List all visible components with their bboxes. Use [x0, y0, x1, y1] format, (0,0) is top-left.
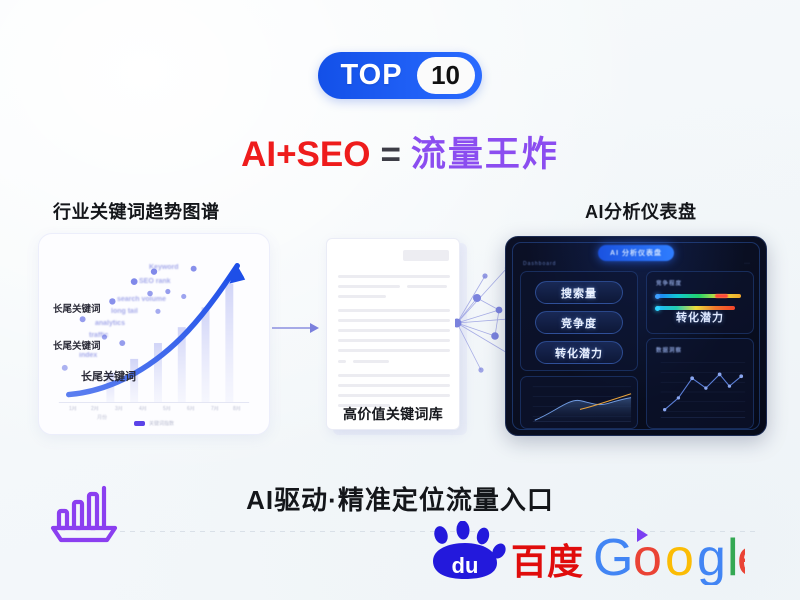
pill-competition[interactable]: 竞争度: [535, 311, 623, 334]
gradient-panel-title: 竞争程度: [656, 279, 682, 287]
long-tail-label-2: 长尾关键词: [53, 338, 101, 352]
flow-arrow-icon: [272, 322, 320, 334]
gradient-marker: [715, 294, 728, 298]
competition-gradient-panel: 竞争程度 转化潜力: [646, 271, 754, 334]
document-caption: 高价值关键词库: [326, 404, 460, 424]
keyword-library-document: [326, 238, 460, 430]
legend-swatch: [134, 421, 145, 426]
dashboard-menu-icon[interactable]: ···: [744, 261, 750, 267]
mini-area-chart-panel: [520, 376, 638, 429]
top-badge-label: TOP: [340, 59, 416, 92]
page-title: AI+SEO=流量王炸: [0, 126, 800, 177]
conversion-potential-overlay: 转化潜力: [647, 309, 753, 325]
google-logo: G o o g l e: [593, 529, 745, 585]
pill-conversion[interactable]: 转化潜力: [535, 341, 623, 364]
keyword-trend-card: Keyword SEO rank search volume long tail…: [38, 233, 270, 435]
ai-dashboard: AI 分析仪表盘 Dashboard ··· 搜索量 竞争度 转化潜力 竞争: [505, 236, 767, 436]
long-tail-label-3: 长尾关键词: [81, 368, 136, 384]
pill-search-volume[interactable]: 搜索量: [535, 281, 623, 304]
legend-label: 关键词指数: [149, 420, 174, 427]
insight-panel: 数据洞察: [646, 338, 754, 429]
dashboard-title-badge: AI 分析仪表盘: [598, 245, 674, 261]
svg-text:e: e: [737, 529, 745, 585]
bar-chart-pedestal-icon: [45, 482, 123, 550]
baidu-text: 百度: [511, 541, 583, 582]
title-traffic: 流量王炸: [411, 135, 559, 174]
right-section-caption: AI分析仪表盘: [585, 198, 697, 224]
top-badge: TOP 10: [318, 52, 481, 99]
svg-text:g: g: [697, 529, 726, 585]
top-badge-wrapper: TOP 10: [0, 52, 800, 99]
insight-line-chart: [647, 339, 753, 428]
dashboard-subtitle: Dashboard: [523, 261, 556, 267]
baidu-du-text: du: [452, 553, 479, 578]
title-ai-seo: AI+SEO: [241, 135, 370, 174]
mini-area-chart: [521, 377, 637, 429]
doc-header-chip: [403, 250, 449, 261]
svg-text:o: o: [665, 529, 694, 585]
title-equals: =: [380, 135, 400, 174]
left-section-caption: 行业关键词趋势图谱: [53, 198, 220, 224]
metric-pills-panel: 搜索量 竞争度 转化潜力: [520, 271, 638, 371]
svg-text:G: G: [593, 529, 633, 585]
long-tail-label-1: 长尾关键词: [53, 301, 101, 315]
top-badge-number: 10: [417, 57, 475, 94]
search-engine-logos: du 百度 G o o g l e: [415, 521, 745, 585]
chart-legend: 关键词指数: [39, 420, 269, 427]
play-triangle-icon: [637, 528, 648, 542]
keyword-trend-chart: Keyword SEO rank search volume long tail…: [39, 234, 269, 434]
gradient-dot-1: [655, 294, 660, 299]
gradient-bar-1: [657, 294, 741, 298]
